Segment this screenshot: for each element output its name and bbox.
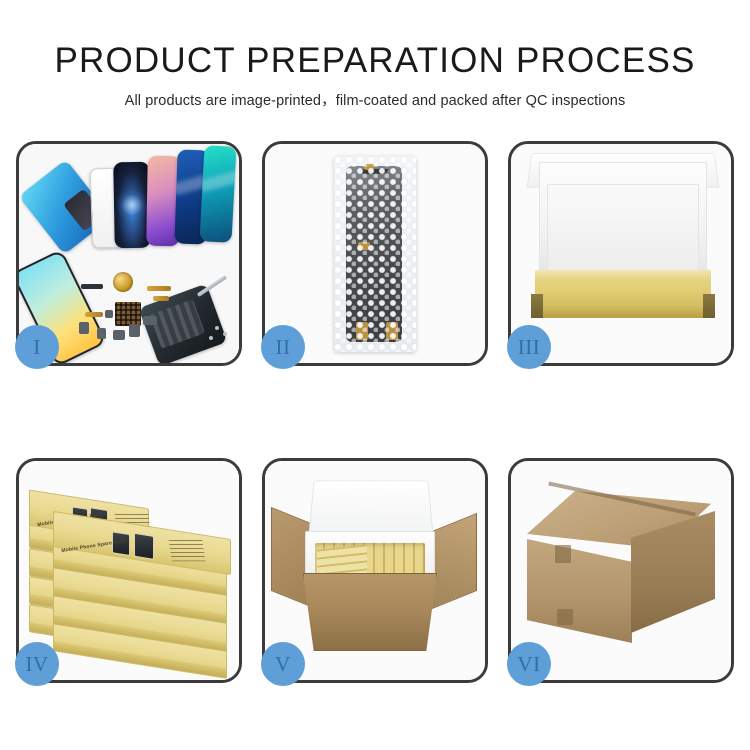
screw-icon-2 — [223, 332, 227, 336]
step-5-alt-text: Open brown carton with white foam insert… — [265, 461, 266, 462]
flex-cable-icon-1 — [147, 286, 171, 291]
flex-cable-icon-2 — [153, 296, 169, 301]
screw-icon-1 — [215, 326, 219, 330]
box-stack-icon: Mobile Phone Spare Parts Mobile Phone Sp… — [27, 477, 233, 669]
process-step-grid: Assorted smartphone display assemblies, … — [16, 141, 734, 711]
kraft-box-flap-right-icon — [703, 294, 715, 318]
process-step-panel-5: Open brown carton with white foam insert… — [262, 458, 488, 683]
step-6-alt-text: Closed and taped brown cardboard shippin… — [511, 461, 512, 462]
small-part-icon-6 — [105, 310, 113, 318]
step-badge-2: II — [261, 325, 305, 369]
foam-sheet-icon — [547, 184, 699, 274]
tape-tab-icon-1 — [364, 164, 374, 170]
step-3-alt-text: Open yellow kraft box lined with white f… — [511, 144, 512, 145]
step-badge-5: V — [261, 642, 305, 686]
step-badge-6: VI — [507, 642, 551, 686]
bracket-part-icon — [81, 284, 103, 289]
process-step-panel-6: Closed and taped brown cardboard shippin… — [508, 458, 734, 683]
step-badge-1: I — [15, 325, 59, 369]
lid-text-block-icon-2 — [168, 539, 205, 561]
carton-front-face-icon — [527, 539, 632, 643]
phone-teal-icon — [200, 145, 237, 243]
process-step-panel-1: Assorted smartphone display assemblies, … — [16, 141, 242, 366]
phone-dark-screen-icon — [113, 162, 150, 249]
tape-tab-icon-3 — [356, 322, 368, 340]
header: PRODUCT PREPARATION PROCESS All products… — [0, 40, 750, 111]
step-badge-3: III — [507, 325, 551, 369]
screw-icon-3 — [209, 336, 213, 340]
carton-tape-icon-1 — [555, 545, 571, 563]
step-4-alt-text: Stack of yellow boxes printed Mobile Pho… — [19, 461, 20, 462]
small-part-icon-3 — [113, 330, 125, 340]
tape-tab-icon-2 — [358, 242, 370, 250]
bubble-wrap-package-icon — [334, 156, 416, 352]
small-part-icon-1 — [79, 322, 89, 334]
process-step-panel-3: Open yellow kraft box lined with white f… — [508, 141, 734, 366]
carton-tape-icon-2 — [557, 609, 573, 625]
product-preparation-process-page: PRODUCT PREPARATION PROCESS All products… — [0, 0, 750, 750]
chip-grid-part-icon — [115, 302, 141, 326]
page-title: PRODUCT PREPARATION PROCESS — [0, 40, 750, 82]
wrapped-screen-icon — [346, 166, 402, 342]
kraft-box-side-icon — [535, 304, 711, 318]
lid-window-icon-4 — [134, 533, 154, 560]
page-subtitle: All products are image-printed，film-coat… — [0, 91, 750, 111]
small-part-icon-2 — [97, 328, 106, 339]
tape-tab-icon-4 — [386, 322, 398, 340]
coil-part-icon — [113, 272, 133, 292]
flex-cable-icon-3 — [85, 312, 103, 317]
step-2-alt-text: Phone screen assembly wrapped in clear b… — [265, 144, 266, 145]
foam-lid-icon — [308, 480, 434, 538]
kraft-box-flap-left-icon — [531, 294, 543, 318]
small-part-icon-4 — [129, 324, 140, 337]
small-part-icon-5 — [143, 316, 157, 325]
step-badge-4: IV — [15, 642, 59, 686]
process-step-panel-2: Phone screen assembly wrapped in clear b… — [262, 141, 488, 366]
process-step-panel-4: Mobile Phone Spare Parts Mobile Phone Sp… — [16, 458, 242, 683]
carton-body-icon — [303, 573, 437, 651]
